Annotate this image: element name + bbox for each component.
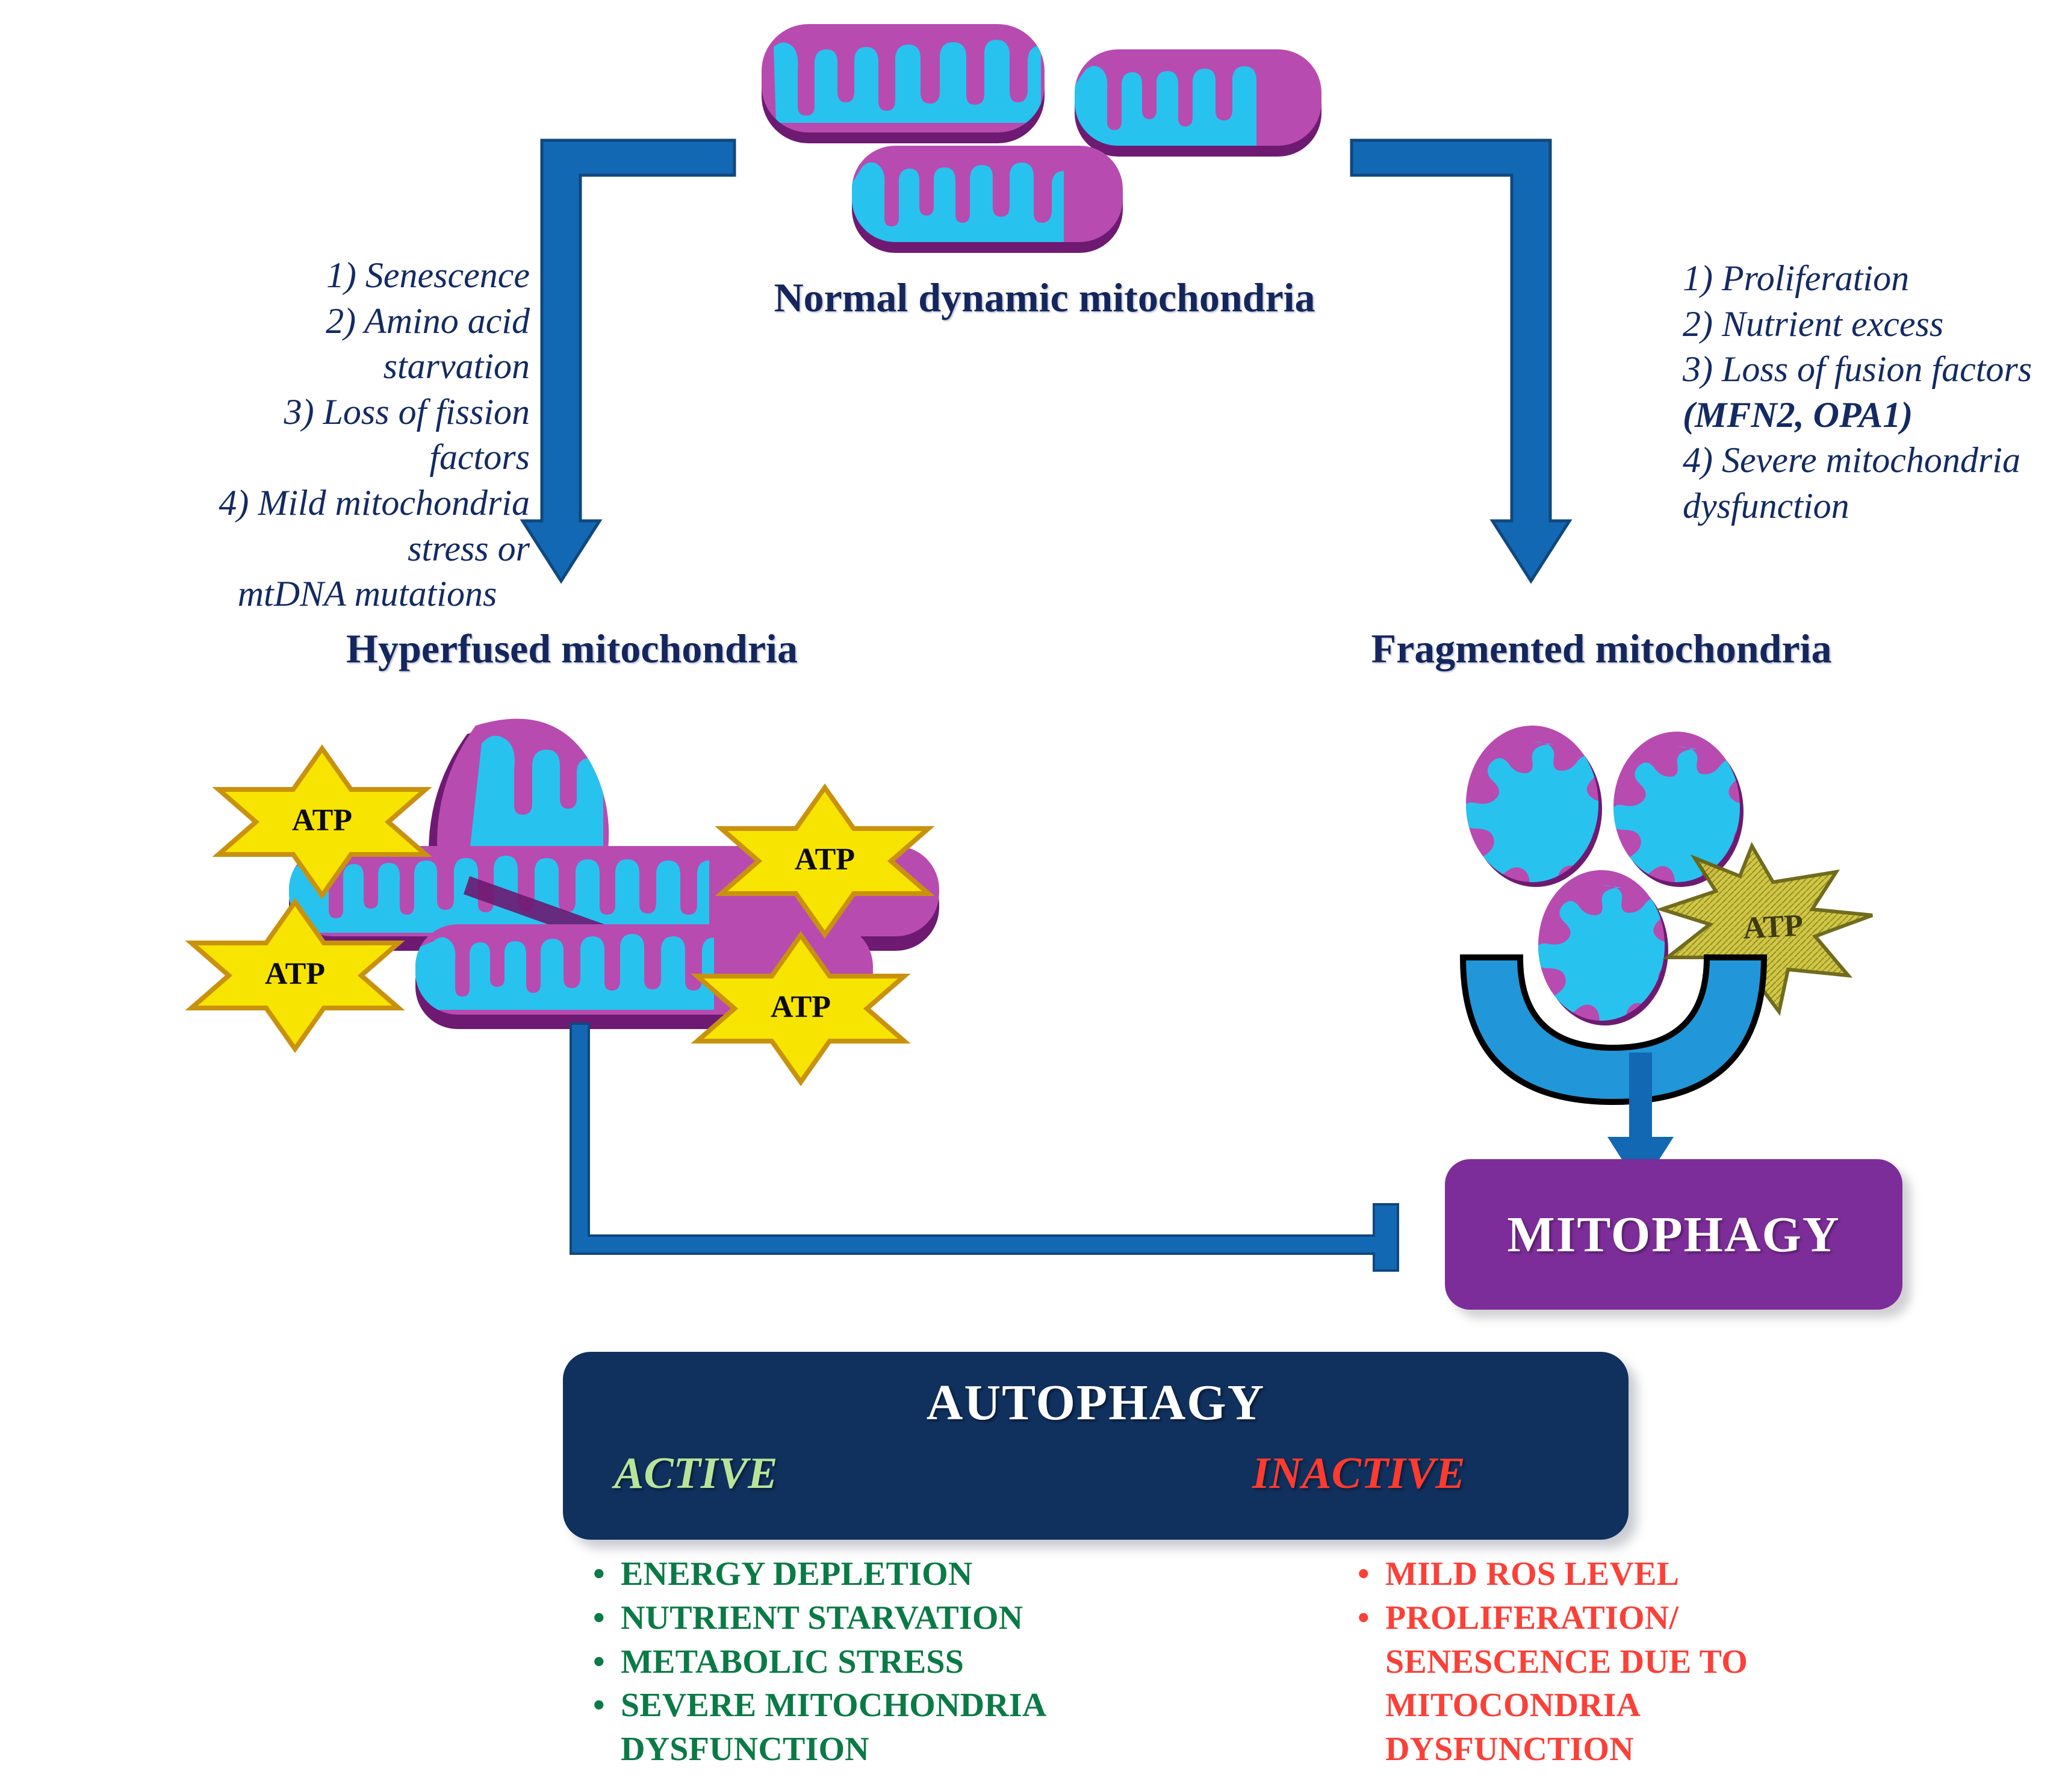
list-item: • METABOLIC STRESS	[593, 1640, 1243, 1684]
right-factor-line-6: dysfunction	[1683, 484, 2065, 529]
left-factor-line-5: mtDNA mutations	[205, 571, 530, 617]
list-item-label: METABOLIC STRESS	[621, 1640, 1243, 1684]
bullet-glyph: •	[593, 1684, 621, 1728]
right-factor-line-2: 2) Nutrient excess	[1683, 302, 2065, 347]
atp-badge-top-right: ATP	[716, 783, 933, 939]
list-item: • ENERGY DEPLETION	[593, 1552, 1243, 1596]
atp-label: ATP	[187, 956, 403, 992]
page-title-normal-mitochondria: Normal dynamic mitochondria	[725, 274, 1364, 322]
mitophagy-box[interactable]: MITOPHAGY	[1445, 1159, 1902, 1310]
left-factors-list: 1) Senescence 2) Amino acid starvation 3…	[205, 253, 530, 617]
list-item-label: ENERGY DEPLETION	[621, 1552, 1243, 1596]
left-elbow-arrow-svg	[518, 135, 734, 593]
list-item-label: MILD ROS LEVEL	[1385, 1552, 1779, 1596]
atp-label-faded: ATP	[1709, 906, 1837, 948]
list-item: • PROLIFERATION/ SENESCENCE DUE TO MITOC…	[1358, 1596, 1779, 1772]
fragmented-svg	[1451, 717, 1927, 1054]
inhibition-connector-svg	[560, 1024, 1427, 1277]
mitochondrion-top-right	[1028, 49, 1321, 157]
autophagy-inactive-label: INACTIVE	[1252, 1448, 1465, 1499]
bullet-glyph: •	[593, 1596, 621, 1640]
bullet-glyph: •	[593, 1640, 621, 1684]
left-factor-line-2: 2) Amino acid starvation	[205, 299, 530, 390]
mitochondrion-top-bottom	[811, 146, 1123, 253]
list-item-label: PROLIFERATION/ SENESCENCE DUE TO MITOCON…	[1385, 1596, 1759, 1772]
right-factors-list: 1) Proliferation 2) Nutrient excess 3) L…	[1683, 256, 2065, 529]
list-item-label: NUTRIENT STARVATION	[621, 1596, 1243, 1640]
right-factor-line-1: 1) Proliferation	[1683, 256, 2065, 302]
arrow-to-fragmented	[1352, 135, 1580, 593]
left-factor-line-4: 4) Mild mitochondria stress or	[205, 481, 530, 571]
left-factor-line-3: 3) Loss of fission factors	[205, 390, 530, 481]
list-item-label: SEVERE MITOCHONDRIA DYSFUNCTION	[621, 1684, 1096, 1772]
autophagy-title: AUTOPHAGY	[563, 1374, 1629, 1432]
fragmented-mitochondria-illustration: ATP	[1451, 717, 1927, 1054]
mitochondrion-top-left	[762, 24, 1045, 143]
left-factor-line-1: 1) Senescence	[205, 253, 530, 299]
list-item: • SEVERE MITOCHONDRIA DYSFUNCTION	[593, 1684, 1243, 1772]
heading-hyperfused-mitochondria: Hyperfused mitochondria	[247, 625, 897, 673]
normal-mitochondria-illustration	[756, 12, 1346, 253]
right-elbow-arrow-svg	[1352, 135, 1580, 593]
bullet-glyph: •	[1358, 1596, 1385, 1640]
atp-badge-top-left: ATP	[214, 744, 430, 900]
atp-label: ATP	[692, 989, 909, 1025]
list-item: • MILD ROS LEVEL	[1358, 1552, 1779, 1596]
bullet-glyph: •	[1358, 1552, 1385, 1596]
right-factor-line-3: 3) Loss of fusion factors	[1683, 347, 2065, 393]
inactive-bullet-list: • MILD ROS LEVEL • PROLIFERATION/ SENESC…	[1358, 1552, 1779, 1772]
normal-mitochondria-svg	[756, 12, 1346, 253]
list-item: • NUTRIENT STARVATION	[593, 1596, 1243, 1640]
bullet-glyph: •	[593, 1552, 621, 1596]
atp-badge-bottom-left: ATP	[187, 897, 403, 1054]
atp-label: ATP	[716, 842, 933, 877]
arrow-to-hyperfused	[518, 135, 734, 593]
mitophagy-label: MITOPHAGY	[1507, 1206, 1840, 1264]
autophagy-box[interactable]: AUTOPHAGY ACTIVE INACTIVE	[563, 1352, 1629, 1540]
active-bullet-list: • ENERGY DEPLETION • NUTRIENT STARVATION…	[593, 1552, 1243, 1772]
inhibition-connector-to-mitophagy	[560, 1024, 1427, 1277]
atp-label: ATP	[214, 803, 430, 838]
right-factor-line-5: 4) Severe mitochondria	[1683, 438, 2065, 484]
autophagy-active-label: ACTIVE	[614, 1448, 777, 1499]
round-mitochondrion-3	[1535, 870, 1689, 1036]
heading-fragmented-mitochondria: Fragmented mitochondria	[1264, 625, 1939, 673]
right-factor-line-4: (MFN2, OPA1)	[1683, 393, 2065, 438]
